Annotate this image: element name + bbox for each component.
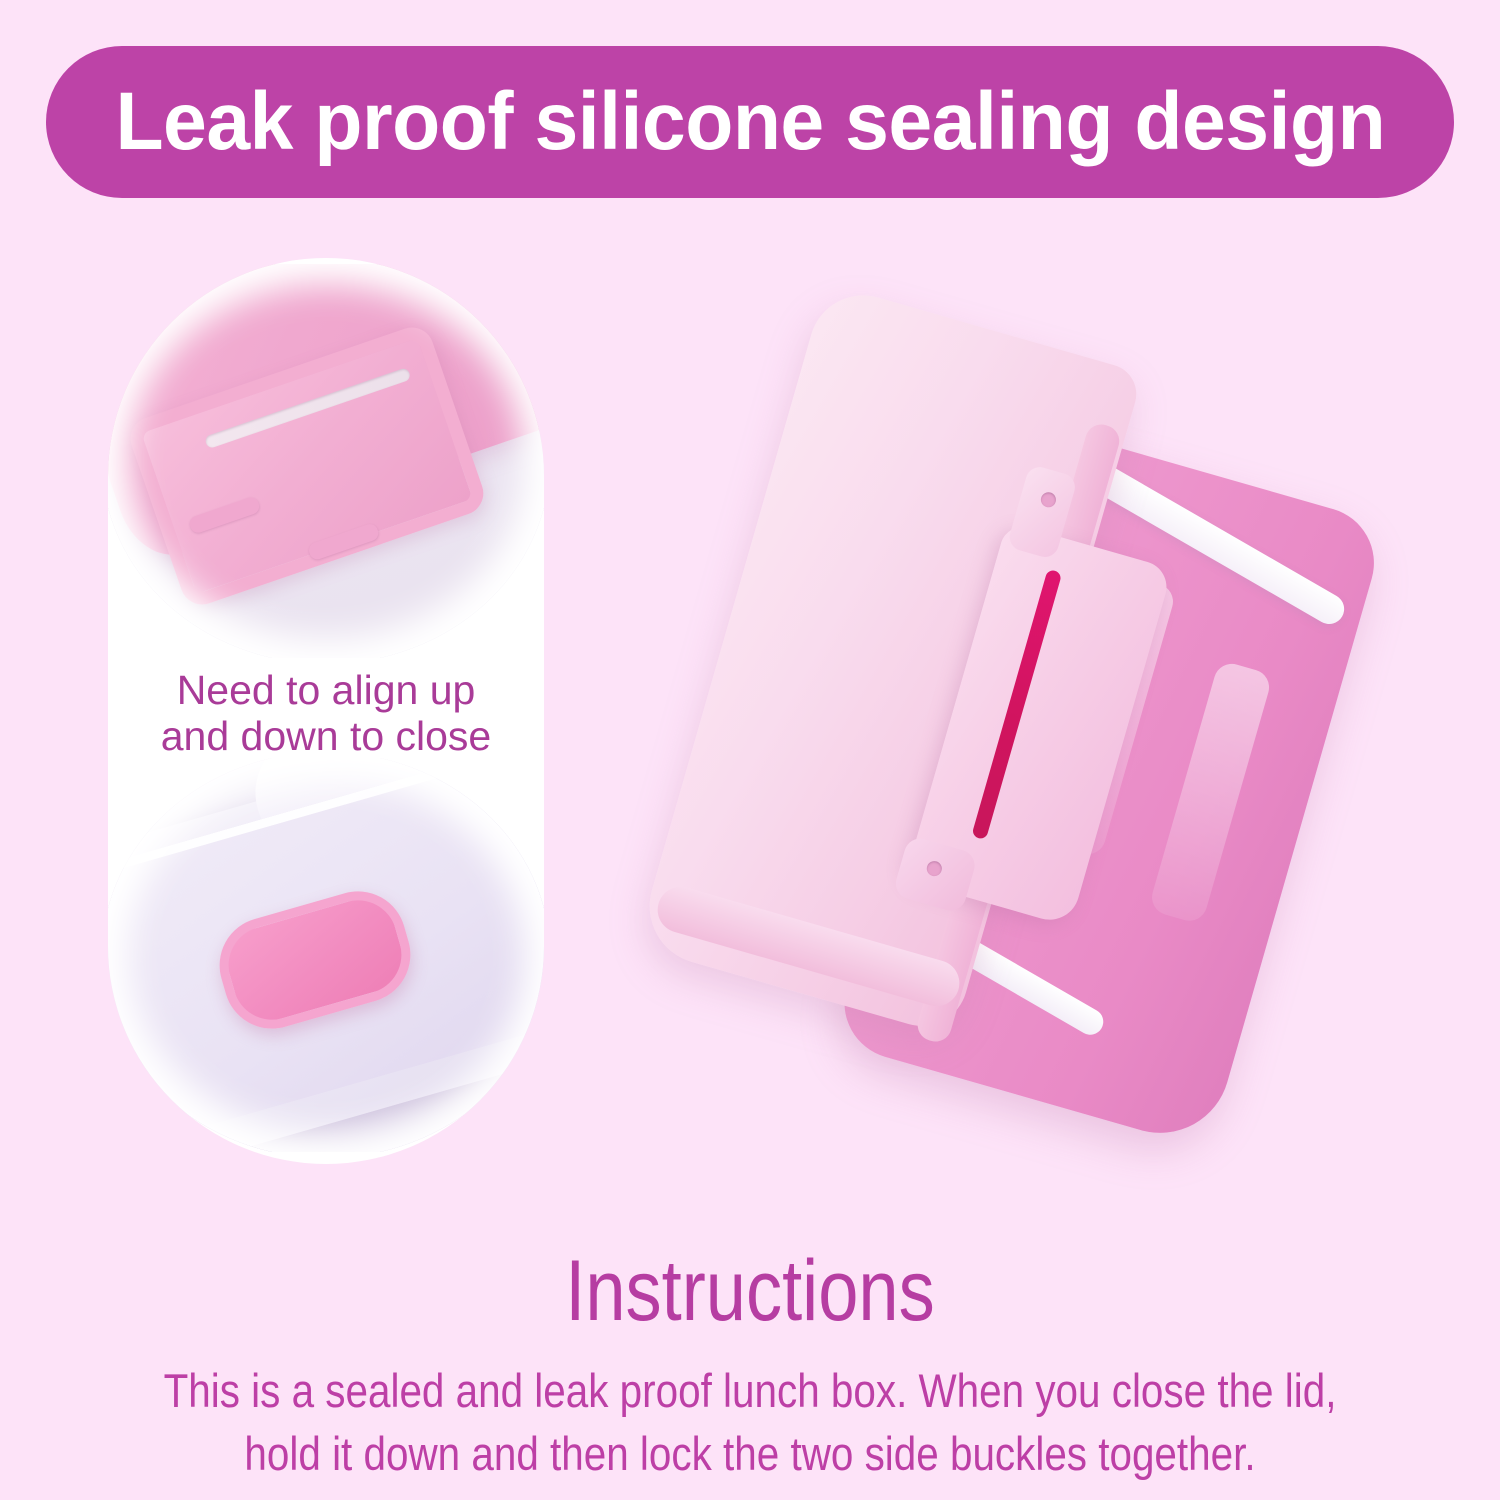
header-banner: Leak proof silicone sealing design [46,46,1454,198]
inset-vignette [108,264,544,658]
instructions-line-1: This is a sealed and leak proof lunch bo… [105,1360,1395,1423]
instructions-section: Instructions This is a sealed and leak p… [0,1248,1500,1486]
buckle-nub [188,495,262,535]
buckle-closeup-scene [108,264,544,658]
inset-caption-line-2: and down to close [161,713,492,759]
body-rib [1148,660,1273,925]
valve-closeup-scene [108,758,544,1152]
inset-photo-silicone-valve [108,758,544,1152]
lunch-box [623,270,1418,1157]
banner-title: Leak proof silicone sealing design [115,81,1385,163]
lid-rim [108,264,410,282]
inset-vignette [108,758,544,1152]
instructions-body: This is a sealed and leak proof lunch bo… [105,1360,1395,1486]
inset-caption-line-1: Need to align up [177,667,476,713]
instructions-heading: Instructions [120,1248,1380,1334]
buckle-slot [971,569,1062,840]
buckle-nub [307,522,381,562]
product-photo [600,270,1480,1230]
inset-photo-capsule: Need to align up and down to close the l… [108,258,544,1164]
instructions-line-2: hold it down and then lock the two side … [105,1423,1395,1486]
inset-photo-lid-buckle [108,264,544,658]
